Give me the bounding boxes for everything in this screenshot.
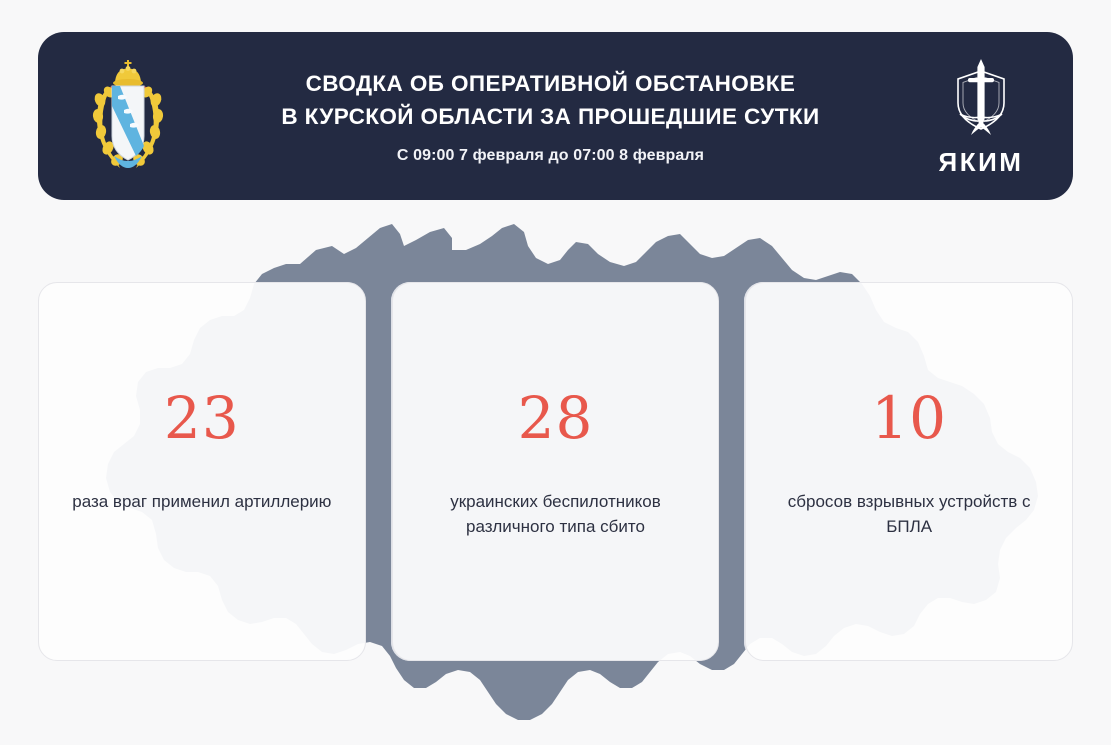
stat-card-explosive-drops: 10 сбросов взрывных устройств с БПЛА <box>745 282 1073 661</box>
brand-logo: ЯКИМ <box>923 57 1039 175</box>
header-text-block: СВОДКА ОБ ОПЕРАТИВНОЙ ОБСТАНОВКЕ В КУРСК… <box>178 67 923 165</box>
stat-value: 23 <box>164 389 240 447</box>
header-banner: СВОДКА ОБ ОПЕРАТИВНОЙ ОБСТАНОВКЕ В КУРСК… <box>38 32 1073 200</box>
stat-label: раза враг применил артиллерию <box>58 489 345 514</box>
kursk-oblast-coat-of-arms-icon <box>78 56 178 176</box>
stat-value: 10 <box>871 389 947 447</box>
crown-part <box>113 60 143 87</box>
stat-value: 28 <box>518 389 594 447</box>
stat-label: украинских беспилотников различного типа… <box>406 489 706 539</box>
shield-sword-logo-icon <box>946 57 1016 145</box>
stat-card-drones: 28 украинских беспилотников различного т… <box>392 282 720 661</box>
stat-card-artillery: 23 раза враг применил артиллерию <box>38 282 366 661</box>
stat-label: сбросов взрывных устройств с БПЛА <box>759 489 1059 539</box>
stats-row: 23 раза враг применил артиллерию 28 укра… <box>38 282 1073 661</box>
page-title-line-1: СВОДКА ОБ ОПЕРАТИВНОЙ ОБСТАНОВКЕ <box>184 67 917 100</box>
page-title-line-2: В КУРСКОЙ ОБЛАСТИ ЗА ПРОШЕДШИЕ СУТКИ <box>184 100 917 133</box>
report-date-range: С 09:00 7 февраля до 07:00 8 февраля <box>184 147 917 165</box>
brand-name: ЯКИМ <box>939 149 1024 175</box>
